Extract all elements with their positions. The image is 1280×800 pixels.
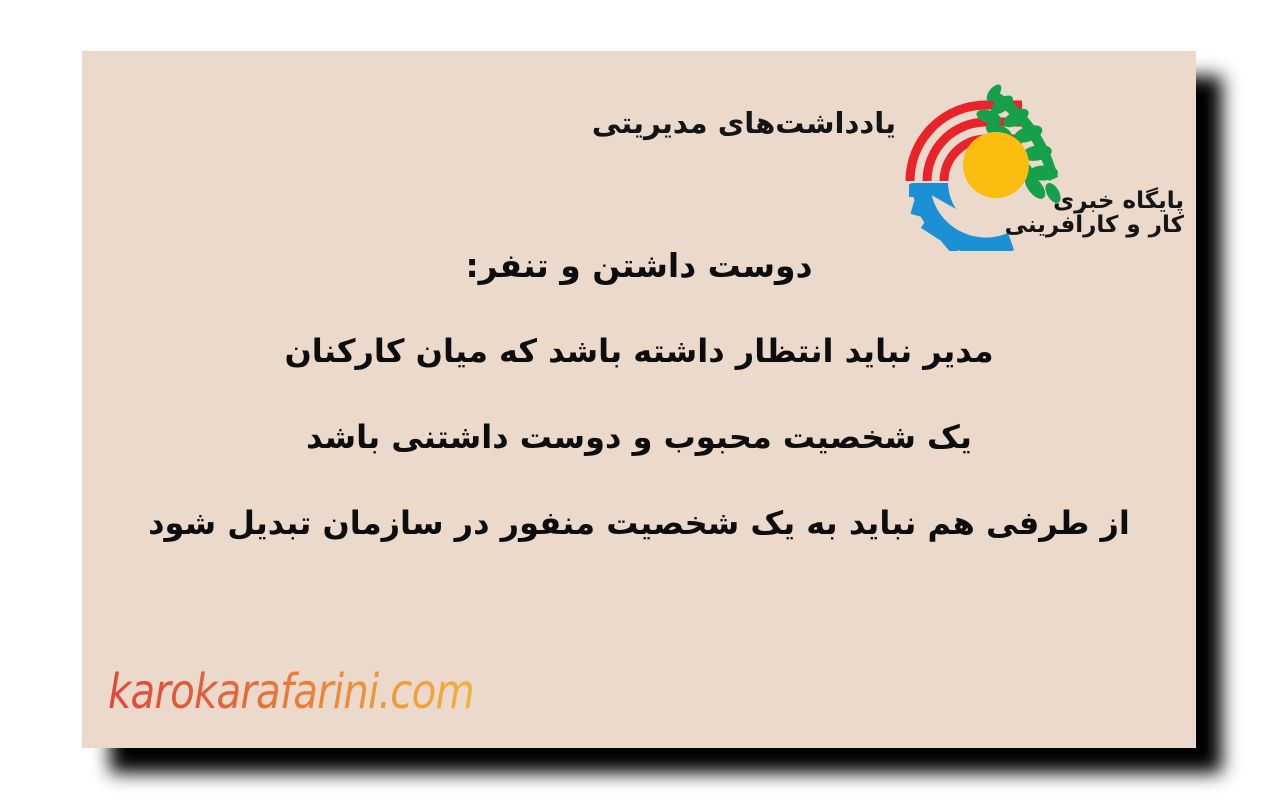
- site-watermark[interactable]: karokarafarini.com: [108, 664, 474, 720]
- quote-line-2: یک شخصیت محبوب و دوست داشتنی باشد: [102, 417, 1176, 457]
- quote-title: دوست داشتن و تنفر:: [102, 246, 1176, 285]
- quote-line-1: مدیر نباید انتظار داشته باشد که میان کار…: [102, 331, 1176, 371]
- kicker-label: یادداشت‌های مدیریتی: [592, 106, 896, 140]
- logo-wordmark-line2: کار و کارآفرینی: [1044, 213, 1184, 237]
- card-header: یادداشت‌های مدیریتی: [82, 51, 1196, 266]
- logo-wordmark: پایگاه خبری کار و کارآفرینی: [1044, 189, 1184, 238]
- site-logo[interactable]: پایگاه خبری کار و کارآفرینی: [896, 61, 1186, 261]
- quote-body: دوست داشتن و تنفر: مدیر نباید انتظار داش…: [102, 246, 1176, 543]
- logo-wordmark-line1: پایگاه خبری: [1044, 189, 1184, 213]
- quote-card: یادداشت‌های مدیریتی: [82, 51, 1196, 748]
- screenshot-stage: یادداشت‌های مدیریتی: [0, 0, 1280, 800]
- quote-line-3: از طرفی هم نباید به یک شخصیت منفور در سا…: [102, 503, 1176, 543]
